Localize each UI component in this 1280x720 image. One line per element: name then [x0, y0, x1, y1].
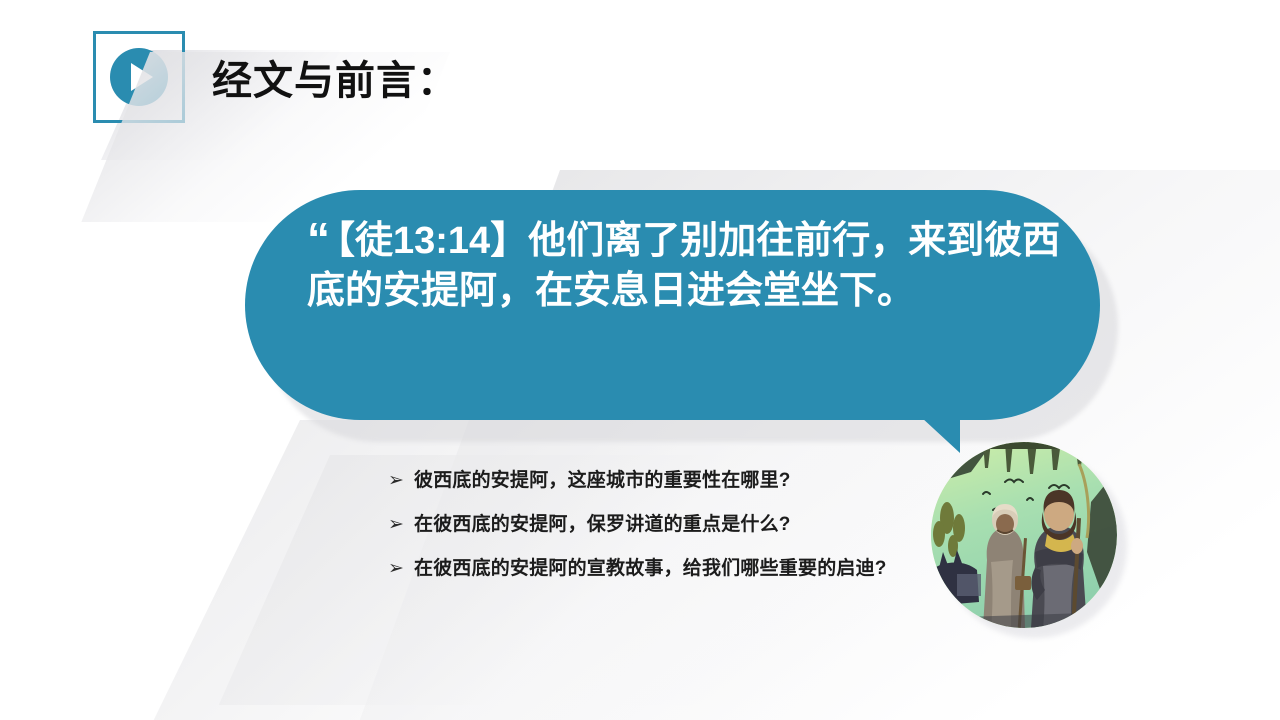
list-item: ➢ 彼西底的安提阿，这座城市的重要性在哪里?	[388, 468, 918, 494]
question-text: 在彼西底的安提阿，保罗讲道的重点是什么?	[414, 512, 918, 538]
question-list: ➢ 彼西底的安提阿，这座城市的重要性在哪里? ➢ 在彼西底的安提阿，保罗讲道的重…	[388, 468, 918, 600]
arrow-bullet-icon: ➢	[388, 512, 414, 538]
quote-text-container: “【徒13:14】他们离了别加往前行，来到彼西底的安提阿，在安息日进会堂坐下。	[307, 216, 1097, 316]
slide-canvas: 经文与前言： “【徒13:14】他们离了别加往前行，来到彼西底的安提阿，在安息日…	[0, 0, 1280, 720]
two-travelers-illustration	[931, 442, 1117, 628]
slide-header: 经文与前言：	[0, 0, 1280, 150]
illustration-container	[931, 442, 1117, 628]
question-text: 在彼西底的安提阿的宣教故事，给我们哪些重要的启迪?	[414, 556, 918, 582]
page-title: 经文与前言：	[212, 48, 458, 106]
list-item: ➢ 在彼西底的安提阿的宣教故事，给我们哪些重要的启迪?	[388, 556, 918, 582]
arrow-bullet-icon: ➢	[388, 468, 414, 494]
question-text: 彼西底的安提阿，这座城市的重要性在哪里?	[414, 468, 918, 494]
list-item: ➢ 在彼西底的安提阿，保罗讲道的重点是什么?	[388, 512, 918, 538]
play-icon	[131, 63, 153, 91]
scripture-text: 【徒13:14】他们离了别加往前行，来到彼西底的安提阿，在安息日进会堂坐下。	[307, 220, 1060, 312]
arrow-bullet-icon: ➢	[388, 556, 414, 582]
quote-mark-icon: “	[307, 213, 330, 265]
scripture-quote-bubble: “【徒13:14】他们离了别加往前行，来到彼西底的安提阿，在安息日进会堂坐下。	[245, 190, 1100, 420]
